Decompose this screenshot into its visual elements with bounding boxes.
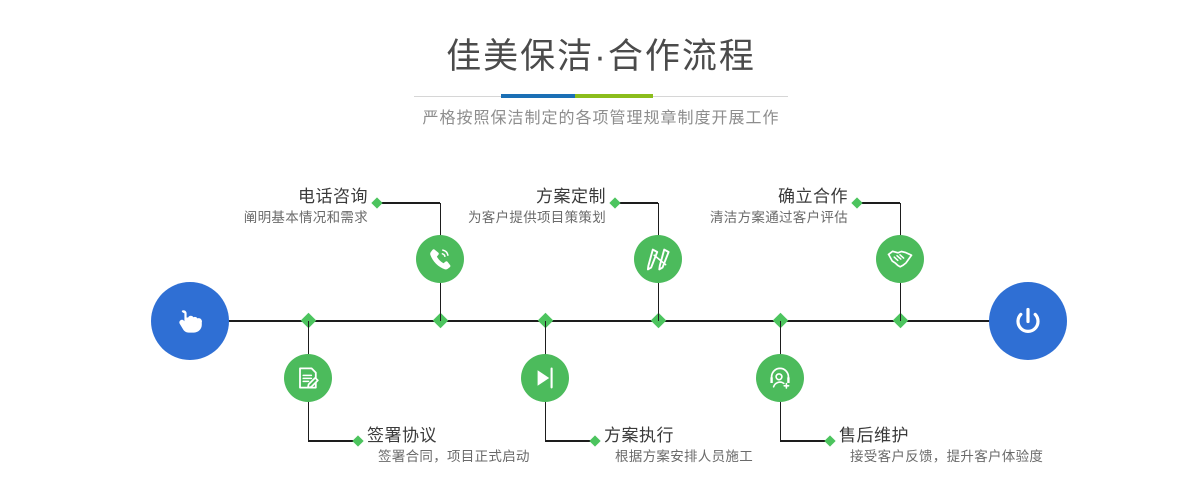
step-label-4: 方案执行 根据方案安排人员施工 [604, 424, 864, 467]
step-label-3: 方案定制 为客户提供项目策策划 [336, 185, 606, 228]
phone-call-icon [426, 245, 454, 273]
step-title: 方案执行 [604, 424, 864, 447]
step-label-5: 确立合作 清洁方案通过客户评估 [578, 185, 848, 228]
step-desc: 接受客户反馈，提升客户体验度 [839, 447, 1139, 467]
step-desc: 根据方案安排人员施工 [604, 447, 864, 467]
timeline-start-node[interactable] [151, 282, 229, 360]
step-label-2: 签署协议 签署合同，项目正式启动 [367, 424, 627, 467]
cooperation-process-infographic: 佳美保洁·合作流程 严格按照保洁制定的各项管理规章制度开展工作 [0, 0, 1202, 502]
connector-elbow [857, 202, 900, 204]
connector-tip-diamond [851, 197, 862, 208]
connector-elbow [780, 440, 828, 442]
step-title: 签署协议 [367, 424, 627, 447]
step-desc: 为客户提供项目策策划 [336, 208, 606, 228]
step-icon-circle-1[interactable] [416, 235, 464, 283]
connector-tip-diamond [352, 435, 363, 446]
step-title: 确立合作 [578, 185, 848, 208]
connector-elbow [545, 440, 593, 442]
document-edit-icon [295, 365, 321, 391]
step-icon-circle-2[interactable] [284, 354, 332, 402]
play-execute-icon [532, 365, 558, 391]
process-timeline: 电话咨询 阐明基本情况和需求 [0, 0, 1202, 502]
step-title: 售后维护 [839, 424, 1139, 447]
step-icon-circle-4[interactable] [521, 354, 569, 402]
timeline-axis [228, 320, 990, 322]
connector-elbow [308, 440, 356, 442]
step-desc: 阐明基本情况和需求 [108, 208, 368, 228]
step-icon-circle-6[interactable] [756, 354, 804, 402]
step-desc: 清洁方案通过客户评估 [578, 208, 848, 228]
step-desc: 签署合同，项目正式启动 [367, 447, 627, 467]
step-title: 电话咨询 [108, 185, 368, 208]
handshake-icon [886, 245, 914, 273]
step-icon-circle-5[interactable] [876, 235, 924, 283]
step-label-1: 电话咨询 阐明基本情况和需求 [108, 185, 368, 228]
power-icon [1008, 301, 1048, 341]
step-label-6: 售后维护 接受客户反馈，提升客户体验度 [839, 424, 1139, 467]
pointing-hand-icon [170, 301, 210, 341]
step-title: 方案定制 [336, 185, 606, 208]
customer-service-icon [767, 365, 793, 391]
pencil-ruler-icon [645, 246, 672, 273]
timeline-end-node[interactable] [989, 282, 1067, 360]
step-icon-circle-3[interactable] [634, 235, 682, 283]
